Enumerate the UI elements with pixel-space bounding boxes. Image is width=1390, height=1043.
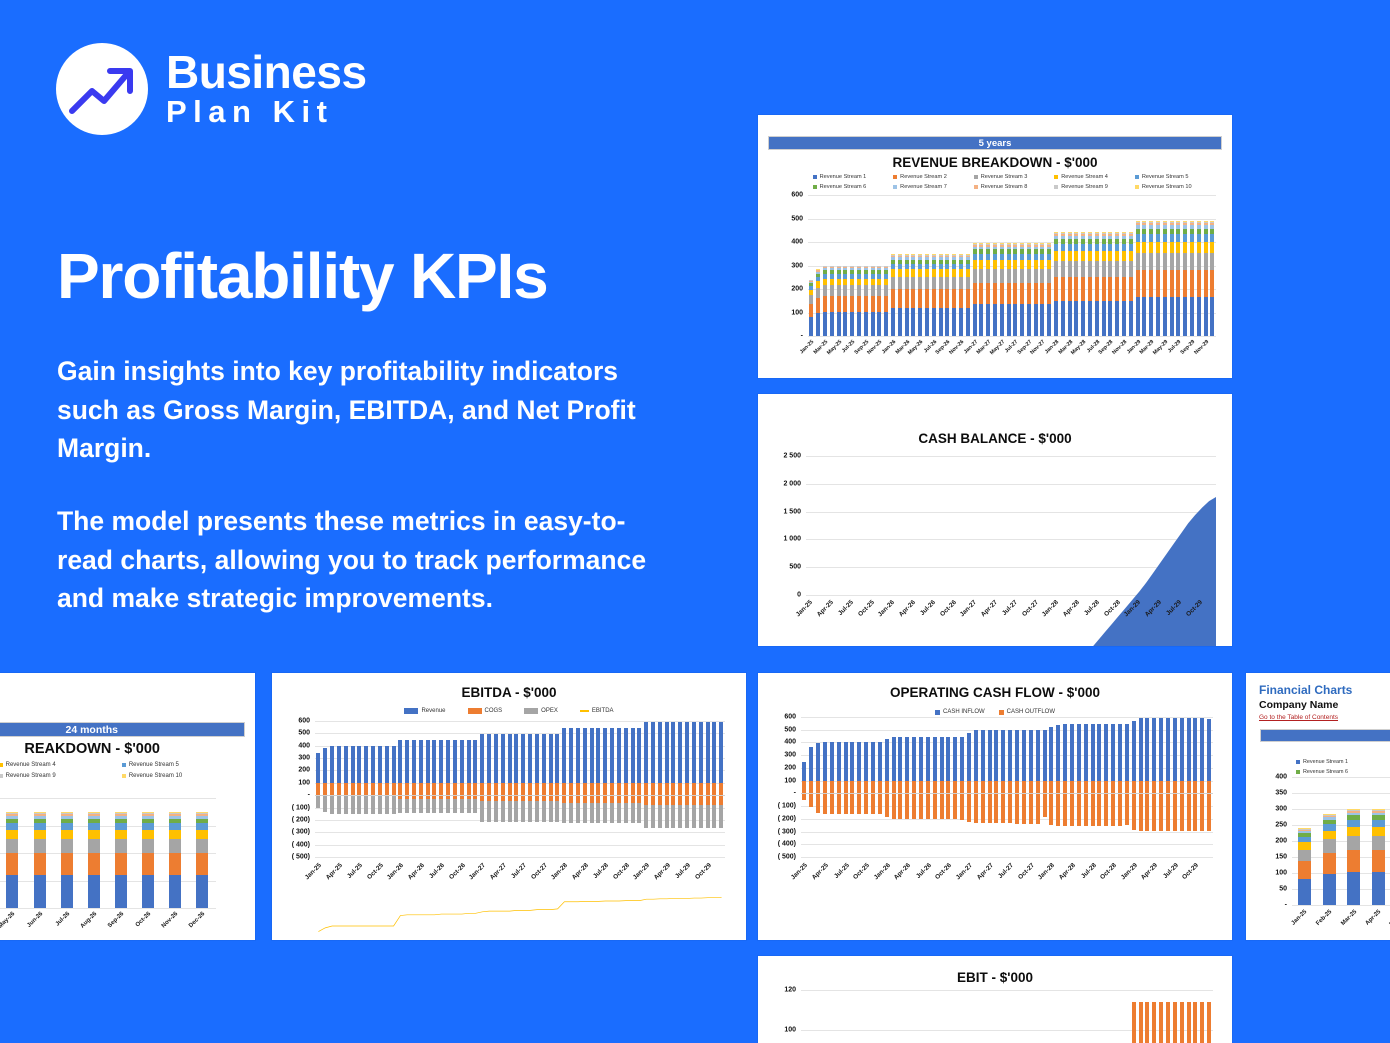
x-axis-slot [849, 860, 856, 861]
stacked-bar[interactable] [864, 266, 868, 337]
bar-positive [905, 737, 909, 781]
stacked-bar[interactable] [1074, 232, 1078, 336]
x-axis-slot [554, 860, 561, 861]
bar-slot [897, 990, 904, 1043]
stacked-bar[interactable] [1204, 221, 1208, 336]
bar-segment [1323, 831, 1336, 840]
bar-slot[interactable] [1027, 717, 1034, 857]
bar-slot[interactable] [1096, 717, 1103, 857]
stacked-bar[interactable] [959, 254, 963, 336]
bar-positive [892, 737, 896, 781]
stacked-bar[interactable] [911, 254, 915, 336]
x-axis-slot: Oct-29 [1192, 860, 1199, 861]
bar-positive [1029, 730, 1033, 780]
bar-negative [1200, 781, 1204, 831]
bar-slot[interactable] [1192, 717, 1199, 857]
x-axis-slot [1062, 860, 1069, 861]
bar-segment [1204, 297, 1208, 336]
bar-slot[interactable] [1089, 717, 1096, 857]
stacked-bar[interactable] [1020, 243, 1024, 336]
stacked-bar[interactable] [973, 243, 977, 336]
stacked-bar[interactable] [891, 254, 895, 336]
stacked-bar[interactable] [88, 812, 100, 908]
bar-slot [1055, 990, 1062, 1043]
stacked-bar[interactable] [945, 254, 949, 336]
x-axis-slot: Nov-27 [1039, 337, 1046, 338]
bar-slot[interactable] [1178, 717, 1185, 857]
stacked-bar[interactable] [6, 812, 18, 908]
stacked-bar[interactable] [1102, 232, 1106, 336]
bar-positive [1084, 724, 1088, 780]
stacked-bar[interactable] [1170, 221, 1174, 336]
bar-segment [1007, 260, 1011, 269]
stacked-bar[interactable] [1163, 221, 1167, 336]
bar-segment [1136, 270, 1140, 296]
bar-slot [862, 195, 869, 336]
stacked-bar[interactable] [1068, 232, 1072, 336]
x-axis-slot [445, 860, 452, 861]
y-axis-tick: ( 400) [778, 841, 796, 848]
stacked-bar[interactable] [1347, 809, 1360, 905]
x-axis-slot: May-27 [998, 337, 1005, 338]
bar-slot[interactable] [904, 717, 911, 857]
stacked-bar[interactable] [1136, 221, 1140, 336]
bar-slot[interactable] [870, 717, 877, 857]
x-axis-slot: Sep-25 [862, 337, 869, 338]
bar-slot[interactable] [801, 717, 808, 857]
x-axis-slot: Apr-27 [986, 860, 993, 861]
bar-slot[interactable] [876, 717, 883, 857]
stacked-bar[interactable] [939, 254, 943, 336]
stacked-bar[interactable] [905, 254, 909, 336]
bar-segment [1156, 234, 1160, 242]
ebit-bar[interactable] [1180, 1002, 1184, 1043]
bar-slot[interactable] [945, 717, 952, 857]
bar-segment [61, 839, 73, 853]
bar-segment [884, 296, 888, 312]
bar-segment [857, 279, 861, 286]
y-axis-tick: ( 500) [778, 854, 796, 861]
bar-segment [925, 308, 929, 336]
ebit-bar[interactable] [1187, 1002, 1191, 1043]
x-axis-tick: Oct-28 [1099, 862, 1118, 881]
x-axis-slot: Jan-27 [970, 597, 977, 598]
card-cash-balance[interactable]: CASH BALANCE - $'000 2 5002 0001 5001 00… [758, 394, 1232, 646]
bar-slot[interactable] [979, 717, 986, 857]
legend-swatch-icon [524, 708, 538, 714]
x-axis-slot: Feb-25 [1317, 907, 1342, 908]
bar-negative [1173, 781, 1177, 831]
x-axis-tick: Nov-28 [1111, 339, 1128, 356]
ebit-bar[interactable] [1166, 1002, 1170, 1043]
stacked-bar[interactable] [142, 812, 154, 908]
bar-positive [1043, 730, 1047, 780]
bar-segment [1149, 234, 1153, 242]
bar-segment [1000, 283, 1004, 304]
cash-balance-title: CASH BALANCE - $'000 [758, 431, 1232, 446]
bar-slot [903, 195, 910, 336]
stacked-bar[interactable] [34, 812, 46, 908]
stacked-bar[interactable] [809, 280, 813, 336]
stacked-bar[interactable] [1034, 243, 1038, 336]
bar-slot [1000, 990, 1007, 1043]
stacked-bar[interactable] [1047, 243, 1051, 336]
bar-segment [1088, 261, 1092, 277]
x-axis-tick: Oct-25 [852, 862, 871, 881]
bar-segment [850, 312, 854, 336]
bar-slot[interactable] [1151, 717, 1158, 857]
ebitda-legend: RevenueCOGSOPEXEBITDA [272, 708, 746, 714]
x-axis-slot [547, 860, 554, 861]
bar-slot[interactable] [1034, 717, 1041, 857]
revenue-breakdown-5y-xaxis: Jan-25Mar-25May-25Jul-25Sep-25Nov-25Jan-… [808, 337, 1216, 338]
bar-slot [1165, 990, 1172, 1043]
bar-slot[interactable] [966, 717, 973, 857]
bar-slot [822, 990, 829, 1043]
bar-segment [1040, 260, 1044, 269]
x-axis-slot [842, 337, 849, 338]
bar-positive [1063, 724, 1067, 780]
stacked-bar[interactable] [898, 254, 902, 336]
x-axis-slot [1188, 597, 1195, 598]
bar-positive [1152, 718, 1156, 780]
stacked-bar[interactable] [925, 254, 929, 336]
stacked-bar[interactable] [1372, 809, 1385, 905]
legend-label: Revenue Stream 9 [1061, 184, 1108, 190]
bar-slot[interactable] [952, 717, 959, 857]
stacked-bar[interactable] [1000, 243, 1004, 336]
bar-segment [1020, 269, 1024, 283]
legend-swatch-icon [122, 763, 126, 767]
ebit-bar[interactable] [1132, 1002, 1136, 1043]
stacked-bar[interactable] [196, 812, 208, 908]
financial-charts-plot: 40035030025020015010050- [1292, 777, 1390, 905]
stacked-bar[interactable] [823, 266, 827, 337]
x-axis-slot [890, 860, 897, 861]
x-axis-slot [1079, 597, 1086, 598]
bar-slot[interactable] [883, 717, 890, 857]
bar-slot[interactable] [1110, 717, 1117, 857]
bar-series [801, 990, 1213, 1043]
stacked-bar[interactable] [1156, 221, 1160, 336]
x-axis-slot [952, 860, 959, 861]
stacked-bar[interactable] [115, 812, 127, 908]
stacked-bar[interactable] [1210, 221, 1214, 336]
bar-slot[interactable] [938, 717, 945, 857]
bar-segment [1298, 850, 1311, 862]
bar-slot[interactable] [918, 717, 925, 857]
stacked-bar[interactable] [918, 254, 922, 336]
bar-negative [892, 781, 896, 819]
x-axis-slot: Jul-28 [602, 860, 609, 861]
stacked-bar[interactable] [1197, 221, 1201, 336]
bar-segment [823, 285, 827, 296]
bar-slot[interactable] [1000, 717, 1007, 857]
bar-segment [1204, 270, 1208, 296]
ebit-bar[interactable] [1145, 1002, 1149, 1043]
stacked-bar[interactable] [884, 266, 888, 337]
x-axis-slot [452, 860, 459, 861]
bar-segment [1197, 253, 1201, 270]
bar-slot[interactable] [1185, 717, 1192, 857]
y-axis-tick: 1 000 [783, 536, 801, 543]
stacked-bar[interactable] [1061, 232, 1065, 336]
bar-segment [850, 296, 854, 312]
legend-label: Revenue Stream 6 [820, 184, 867, 190]
bar-segment [1176, 253, 1180, 270]
bar-segment [952, 289, 956, 308]
card-financial-charts[interactable]: Financial Charts Company Name Go to the … [1246, 673, 1390, 940]
card-revenue-breakdown-5y[interactable]: 5 years REVENUE BREAKDOWN - $'000 Revenu… [758, 115, 1232, 378]
bar-slot [959, 990, 966, 1043]
bar-slot[interactable] [1117, 717, 1124, 857]
stacked-bar[interactable] [1323, 814, 1336, 905]
bar-segment [1136, 297, 1140, 336]
y-axis-tick: 2 500 [783, 453, 801, 460]
stacked-bar[interactable] [871, 266, 875, 337]
bar-slot[interactable] [1103, 717, 1110, 857]
bar-slot [1114, 195, 1121, 336]
stacked-bar[interactable] [1027, 243, 1031, 336]
bar-segment [1372, 827, 1385, 836]
bar-slot[interactable] [897, 717, 904, 857]
bar-slot[interactable] [924, 717, 931, 857]
legend-swatch-icon [999, 710, 1004, 715]
financial-charts-title: Financial Charts [1259, 683, 1352, 697]
card-revenue-breakdown-24m[interactable]: 24 months REAKDOWN - $'000 Revenue Strea… [0, 673, 255, 940]
x-axis-slot: Jul-29 [1171, 860, 1178, 861]
bar-segment [925, 269, 929, 277]
ebit-bar[interactable] [1207, 1002, 1211, 1043]
stacked-bar[interactable] [1007, 243, 1011, 336]
stacked-bar[interactable] [1088, 232, 1092, 336]
x-axis-slot: Jan-25 [808, 337, 815, 338]
x-axis-slot: Jul-29 [1175, 337, 1182, 338]
bar-segment [1170, 234, 1174, 242]
stacked-bar[interactable] [857, 266, 861, 337]
bar-segment [196, 853, 208, 875]
x-axis-slot [813, 597, 820, 598]
stacked-bar[interactable] [1040, 243, 1044, 336]
stacked-bar[interactable] [1142, 221, 1146, 336]
ebit-bar[interactable] [1200, 1002, 1204, 1043]
bar-negative [1097, 781, 1101, 826]
bar-slot [964, 195, 971, 336]
x-axis-tick: Mar-25 [1340, 909, 1358, 927]
bar-slot[interactable] [1014, 717, 1021, 857]
bar-slot[interactable] [972, 717, 979, 857]
x-axis-slot: Jan-28 [1048, 860, 1055, 861]
bar-slot[interactable] [828, 717, 835, 857]
bar-slot[interactable] [1082, 717, 1089, 857]
x-axis-slot: Jul-28 [1093, 597, 1100, 598]
stacked-bar[interactable] [979, 243, 983, 336]
bar-slot[interactable] [1021, 717, 1028, 857]
stacked-bar[interactable] [1122, 232, 1126, 336]
bar-series [801, 717, 1213, 857]
bar-slot [856, 195, 863, 336]
bar-slot[interactable] [1062, 717, 1069, 857]
bar-slot [890, 195, 897, 336]
bar-slot[interactable] [1206, 717, 1213, 857]
bar-slot[interactable] [835, 717, 842, 857]
x-axis-slot [1045, 597, 1052, 598]
bar-slot[interactable] [1144, 717, 1151, 857]
bar-slot[interactable] [1123, 717, 1130, 857]
stacked-bar[interactable] [986, 243, 990, 336]
bar-slot[interactable] [1158, 717, 1165, 857]
stacked-bar[interactable] [837, 266, 841, 337]
ebit-bar[interactable] [1152, 1002, 1156, 1043]
legend-swatch-icon [122, 774, 126, 778]
bar-slot[interactable] [842, 717, 849, 857]
bar-positive [802, 762, 806, 780]
bar-slot[interactable] [856, 717, 863, 857]
stacked-bar[interactable] [1054, 232, 1058, 336]
stacked-bar[interactable] [1108, 232, 1112, 336]
ebit-bar[interactable] [1159, 1002, 1163, 1043]
bar-segment [1108, 261, 1112, 277]
ebit-bar[interactable] [1139, 1002, 1143, 1043]
stacked-bar[interactable] [850, 266, 854, 337]
stacked-bar[interactable] [816, 269, 820, 336]
stacked-bar[interactable] [61, 812, 73, 908]
bar-slot[interactable] [911, 717, 918, 857]
bar-slot[interactable] [863, 717, 870, 857]
bar-slot[interactable] [1075, 717, 1082, 857]
bar-slot [1007, 990, 1014, 1043]
bar-segment [911, 308, 915, 336]
stacked-bar[interactable] [1183, 221, 1187, 336]
bar-slot[interactable] [1171, 717, 1178, 857]
card-ebitda[interactable]: EBITDA - $'000 RevenueCOGSOPEXEBITDA 600… [272, 673, 746, 940]
bar-slot[interactable] [1199, 717, 1206, 857]
bar-negative [802, 781, 806, 800]
x-axis-slot [1014, 860, 1021, 861]
legend-swatch-icon [974, 185, 978, 189]
bar-slot[interactable] [959, 717, 966, 857]
x-axis-slot: Jan-29 [1134, 337, 1141, 338]
bar-segment [979, 260, 983, 269]
card-operating-cash-flow[interactable]: OPERATING CASH FLOW - $'000 CASH INFLOWC… [758, 673, 1232, 940]
stacked-bar[interactable] [952, 254, 956, 336]
bar-slot[interactable] [1130, 717, 1137, 857]
stacked-bar[interactable] [1013, 243, 1017, 336]
bar-segment [857, 285, 861, 296]
bar-slot[interactable] [1165, 717, 1172, 857]
x-axis-slot: Sep-26 [944, 337, 951, 338]
bar-slot [930, 195, 937, 336]
bar-segment [952, 269, 956, 277]
stacked-bar[interactable] [1149, 221, 1153, 336]
bar-negative [1111, 781, 1115, 826]
stacked-bar[interactable] [1190, 221, 1194, 336]
stacked-bar[interactable] [993, 243, 997, 336]
x-axis-slot: Jan-25 [806, 597, 813, 598]
stacked-bar[interactable] [932, 254, 936, 336]
bar-segment [925, 289, 929, 308]
x-axis-slot [595, 860, 602, 861]
bar-negative [940, 781, 944, 819]
stacked-bar[interactable] [843, 266, 847, 337]
bar-slot[interactable] [986, 717, 993, 857]
ebit-bar[interactable] [1173, 1002, 1177, 1043]
bar-slot [162, 798, 189, 908]
stacked-bar[interactable] [877, 266, 881, 337]
stacked-bar[interactable] [169, 812, 181, 908]
bar-segment [1122, 244, 1126, 251]
stacked-bar[interactable] [1081, 232, 1085, 336]
ebit-plot: 12010080 [801, 990, 1213, 1043]
bar-slot[interactable] [1137, 717, 1144, 857]
bar-slot[interactable] [822, 717, 829, 857]
bar-slot[interactable] [1041, 717, 1048, 857]
bar-negative [885, 781, 889, 817]
bar-segment [905, 269, 909, 277]
bar-segment [1040, 269, 1044, 283]
bar-slot[interactable] [1069, 717, 1076, 857]
stacked-bar[interactable] [1176, 221, 1180, 336]
bar-segment [1068, 261, 1072, 277]
stacked-bar[interactable] [1095, 232, 1099, 336]
stacked-bar[interactable] [1129, 232, 1133, 336]
x-axis-slot: May-28 [1080, 337, 1087, 338]
ebit-bar[interactable] [1193, 1002, 1197, 1043]
bar-segment [877, 312, 881, 336]
bar-slot[interactable] [1048, 717, 1055, 857]
card-ebit[interactable]: EBIT - $'000 12010080 [758, 956, 1232, 1043]
bar-slot[interactable] [931, 717, 938, 857]
bar-slot[interactable] [993, 717, 1000, 857]
x-axis-slot: Oct-25 [376, 860, 383, 861]
legend-item: Revenue Stream 4 [1054, 174, 1135, 180]
x-axis-slot: Jul-29 [684, 860, 691, 861]
x-axis-tick: Sep-26 [107, 911, 125, 929]
bar-segment [837, 279, 841, 286]
stacked-bar[interactable] [1298, 828, 1311, 905]
bar-segment [911, 289, 915, 308]
revenue-breakdown-5y-legend: Revenue Stream 1Revenue Stream 2Revenue … [802, 174, 1226, 190]
stacked-bar[interactable] [830, 266, 834, 337]
x-axis-slot [963, 597, 970, 598]
bar-slot[interactable] [808, 717, 815, 857]
stacked-bar[interactable] [966, 254, 970, 336]
bar-slot[interactable] [1007, 717, 1014, 857]
bar-slot[interactable] [1055, 717, 1062, 857]
bar-slot[interactable] [849, 717, 856, 857]
hero-paragraph-1: Gain insights into key profitability ind… [57, 352, 677, 468]
bar-slot[interactable] [815, 717, 822, 857]
bar-slot [1130, 990, 1137, 1043]
legend-label: Revenue Stream 1 [820, 174, 867, 180]
x-axis-slot [1161, 597, 1168, 598]
y-axis-tick: 400 [1275, 774, 1287, 781]
bar-slot[interactable] [890, 717, 897, 857]
bar-slot [1096, 990, 1103, 1043]
stacked-bar[interactable] [1115, 232, 1119, 336]
x-axis-slot: Apr-29 [663, 860, 670, 861]
bar-segment [1122, 251, 1126, 261]
bar-segment [1095, 251, 1099, 261]
bar-positive [1077, 724, 1081, 780]
table-of-contents-link[interactable]: Go to the Table of Contents [1259, 714, 1338, 721]
bar-slot [1019, 195, 1026, 336]
legend-item: Revenue [404, 708, 445, 714]
bar-slot [1039, 195, 1046, 336]
bar-positive [816, 743, 820, 781]
bar-segment [1372, 850, 1385, 872]
bar-segment [169, 875, 181, 908]
